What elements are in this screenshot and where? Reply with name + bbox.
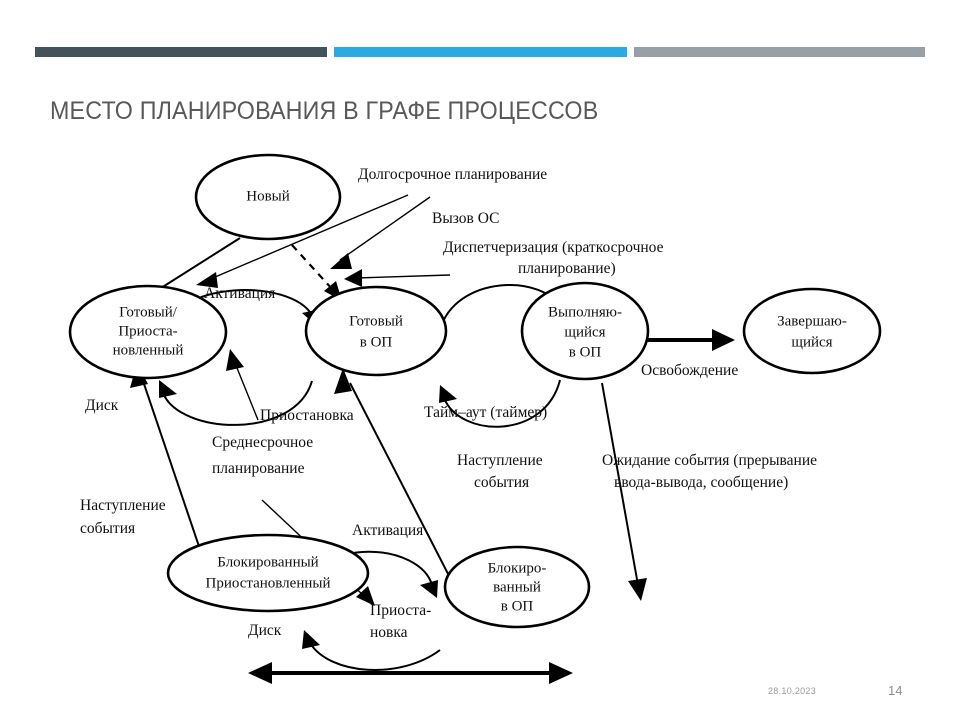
top-accent-bar xyxy=(0,47,960,57)
node-blocked-suspended-line2: Приостановленный xyxy=(205,575,330,591)
node-blocked-suspended-line1: Блокированный xyxy=(217,554,318,570)
node-blocked-ram[interactable]: Блокиро- ванный в ОП xyxy=(445,547,589,627)
label-event-occurrence-left-line2: события xyxy=(80,520,135,537)
node-ready-suspended-line3: новленный xyxy=(113,342,184,358)
label-event-occurrence-left-line1: Наступление xyxy=(80,497,166,514)
node-ready-suspended-line1: Готовый/ xyxy=(119,304,178,320)
label-suspension-bottom-line1: Приоста- xyxy=(370,602,431,619)
node-blocked-suspended[interactable]: Блокированный Приостановленный xyxy=(168,535,368,611)
label-event-occurrence-mid-line1: Наступление xyxy=(457,452,543,469)
node-running-ram[interactable]: Выполняю- щийся в ОП xyxy=(522,283,648,379)
accent-segment-gray xyxy=(634,47,925,57)
label-event-wait-line2: ввода-вывода, сообщение) xyxy=(614,474,788,491)
node-running-ram-line2: щийся xyxy=(564,324,605,340)
label-os-call: Вызов ОС xyxy=(432,210,499,227)
label-suspension-upper: Приостановка xyxy=(260,407,354,424)
label-dispatching-line2: планирование) xyxy=(518,260,616,277)
accent-segment-dark xyxy=(35,47,327,57)
label-medium-term-planning-line1: Среднесрочное xyxy=(212,434,313,451)
node-ready-ram-line1: Готовый xyxy=(349,313,403,329)
label-release: Освобождение xyxy=(641,362,738,379)
label-activation-bottom: Активация xyxy=(352,522,423,539)
label-medium-term-planning-line2: планирование xyxy=(212,460,305,477)
page-title: МЕСТО ПЛАНИРОВАНИЯ В ГРАФЕ ПРОЦЕССОВ xyxy=(50,96,598,126)
node-terminating[interactable]: Завершаю- щийся xyxy=(744,289,880,373)
label-suspension-bottom-line2: новка xyxy=(370,624,408,641)
label-disk-lower: Диск xyxy=(248,622,282,639)
node-ready-suspended-line2: Приоста- xyxy=(118,323,177,339)
node-blocked-ram-line3: в ОП xyxy=(501,598,534,614)
accent-segment-blue xyxy=(334,47,627,57)
footer-page-number: 14 xyxy=(888,683,902,698)
edge-suspension-upper-pointer xyxy=(226,349,258,420)
process-state-diagram: Новый Готовый/ Приоста- новленный Готовы… xyxy=(0,135,960,690)
label-disk-upper: Диск xyxy=(85,397,119,414)
node-ready-ram[interactable]: Готовый в ОП xyxy=(306,287,446,375)
edge-new-to-ready-ram-dashed xyxy=(292,245,342,301)
edge-release xyxy=(640,329,735,351)
label-event-occurrence-mid-line2: события xyxy=(474,474,529,491)
node-running-ram-line3: в ОП xyxy=(569,344,602,360)
node-blocked-ram-line1: Блокиро- xyxy=(488,560,547,576)
label-dispatching-line1: Диспетчеризация (краткосрочное xyxy=(443,239,664,256)
node-blocked-ram-line2: ванный xyxy=(493,579,541,595)
label-timeout: Тайм–аут (таймер) xyxy=(424,404,547,421)
node-running-ram-line1: Выполняю- xyxy=(548,304,622,320)
node-terminating-line1: Завершаю- xyxy=(777,313,847,329)
label-event-wait-line1: Ожидание события (прерывание xyxy=(602,452,817,469)
edge-event-wait xyxy=(602,383,647,601)
node-ready-ram-line2: в ОП xyxy=(360,334,393,350)
node-new[interactable]: Новый xyxy=(196,155,340,239)
label-long-term-planning: Долгосрочное планирование xyxy=(358,166,547,183)
edge-os-call xyxy=(344,269,450,287)
node-ready-suspended[interactable]: Готовый/ Приоста- новленный xyxy=(70,286,226,378)
node-new-label: Новый xyxy=(246,188,290,204)
label-activation-top: Активация xyxy=(204,285,275,302)
node-terminating-line2: щийся xyxy=(791,334,832,350)
edge-long-term-planning-right xyxy=(330,197,430,269)
footer-date: 28.10.2023 xyxy=(768,686,816,696)
